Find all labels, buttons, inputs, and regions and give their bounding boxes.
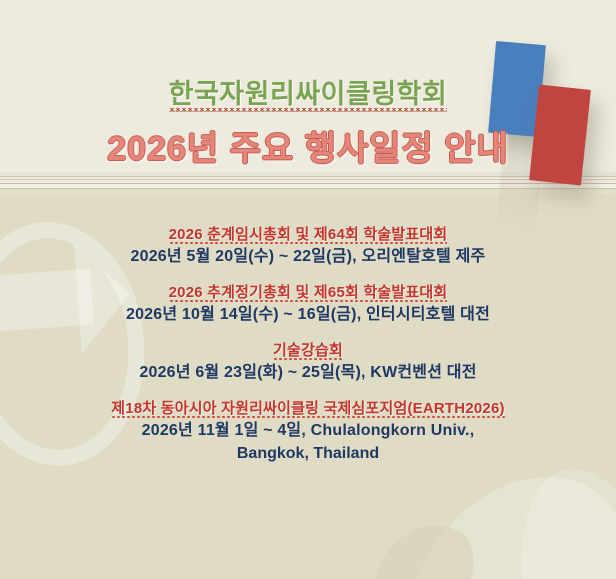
event-item: 제18차 동아시아 자원리싸이클링 국제심포지엄(EARTH2026) 2026… bbox=[0, 398, 616, 465]
event-title: 2026 춘계임시총회 및 제64회 학술발표대회 bbox=[0, 224, 616, 245]
event-title-text: 기술강습회 bbox=[273, 342, 343, 360]
poster-canvas: 한국자원리싸이클링학회 2026년 주요 행사일정 안내 2026 춘계임시총회… bbox=[0, 0, 616, 579]
organization-title-text: 한국자원리싸이클링학회 bbox=[169, 79, 448, 112]
event-title-text: 2026 춘계임시총회 및 제64회 학술발표대회 bbox=[169, 226, 448, 244]
organization-title: 한국자원리싸이클링학회 bbox=[0, 72, 616, 111]
event-detail-secondary: Bangkok, Thailand bbox=[0, 442, 616, 465]
event-title-text: 2026 추계정기총회 및 제65회 학술발표대회 bbox=[169, 284, 448, 302]
event-item: 기술강습회 2026년 6월 23일(화) ~ 25일(목), KW컨벤션 대전 bbox=[0, 340, 616, 384]
event-title-text: 제18차 동아시아 자원리싸이클링 국제심포지엄(EARTH2026) bbox=[111, 400, 504, 418]
page-title: 2026년 주요 행사일정 안내 bbox=[0, 121, 616, 170]
event-detail: 2026년 10월 14일(수) ~ 16일(금), 인터시티호텔 대전 bbox=[0, 303, 616, 326]
event-title: 기술강습회 bbox=[0, 340, 616, 361]
event-title: 2026 추계정기총회 및 제65회 학술발표대회 bbox=[0, 282, 616, 303]
event-title: 제18차 동아시아 자원리싸이클링 국제심포지엄(EARTH2026) bbox=[0, 398, 616, 419]
event-detail: 2026년 6월 23일(화) ~ 25일(목), KW컨벤션 대전 bbox=[0, 361, 616, 384]
event-detail: 2026년 5월 20일(수) ~ 22일(금), 오리엔탈호텔 제주 bbox=[0, 245, 616, 268]
event-item: 2026 춘계임시총회 및 제64회 학술발표대회 2026년 5월 20일(수… bbox=[0, 224, 616, 268]
event-detail: 2026년 11월 1일 ~ 4일, Chulalongkorn Univ., bbox=[0, 419, 616, 442]
event-item: 2026 추계정기총회 및 제65회 학술발표대회 2026년 10월 14일(… bbox=[0, 282, 616, 326]
event-schedule-list: 2026 춘계임시총회 및 제64회 학술발표대회 2026년 5월 20일(수… bbox=[0, 224, 616, 479]
